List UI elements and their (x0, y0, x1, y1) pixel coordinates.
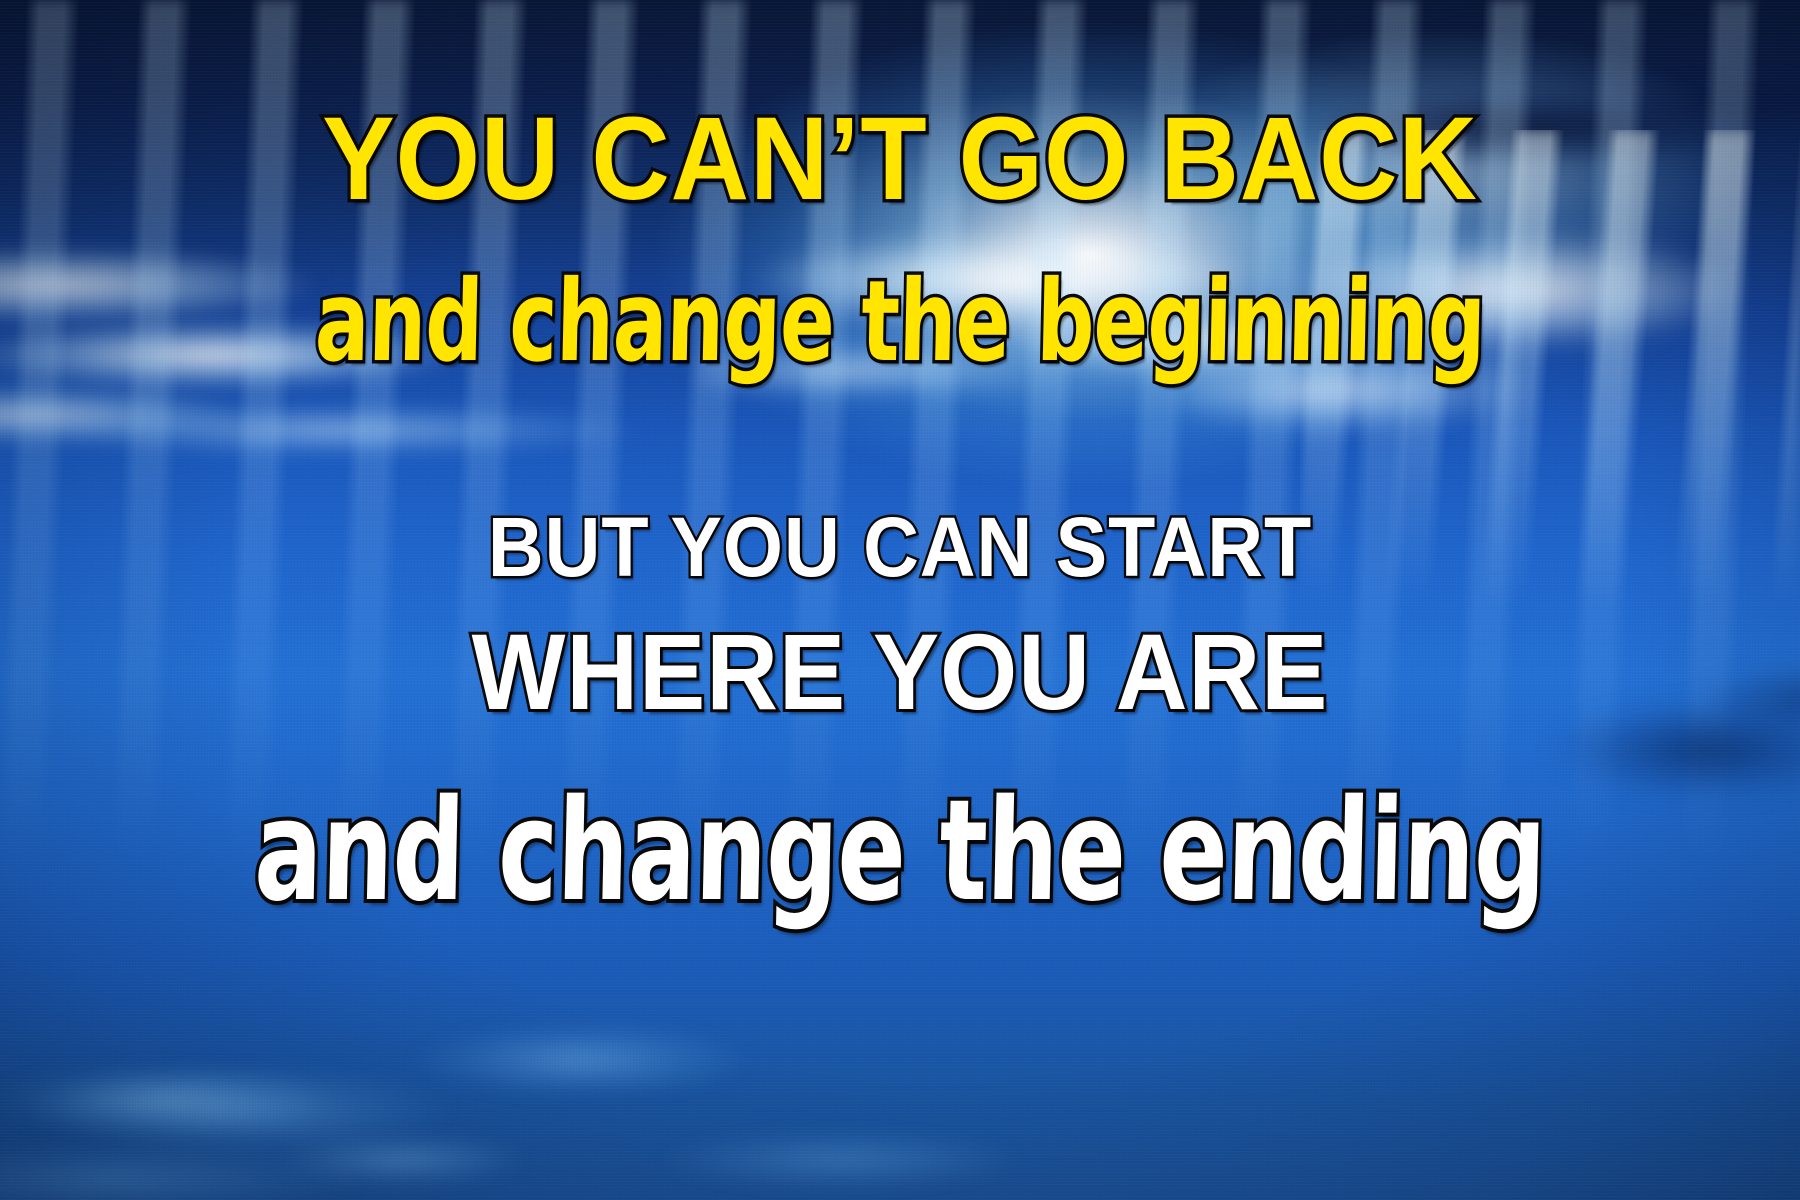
quote-text-layer: YOU CAN’T GO BACK and change the beginni… (0, 0, 1800, 1200)
quote-line-3: BUT YOU CAN START (72, 505, 1728, 589)
quote-line-1: YOU CAN’T GO BACK (72, 100, 1728, 218)
quote-poster: YOU CAN’T GO BACK and change the beginni… (0, 0, 1800, 1200)
quote-line-5: and change the ending (179, 782, 1622, 922)
quote-line-2: and change the beginning (179, 266, 1621, 378)
quote-line-4: WHERE YOU ARE (72, 618, 1728, 726)
